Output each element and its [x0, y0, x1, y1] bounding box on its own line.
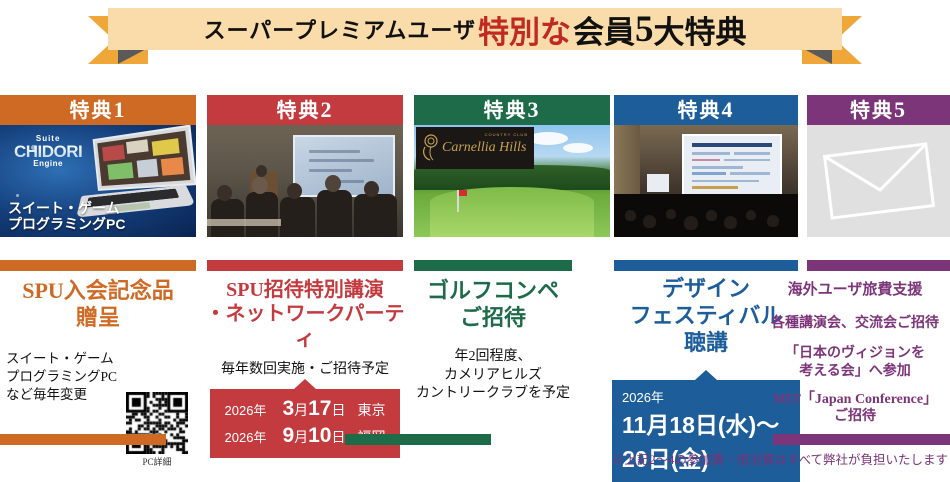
banner-tail-a-text: 会員 — [573, 7, 635, 52]
benefit-panel-2: SPU招待特別講演 ・ネットワークパーティ 毎年数回実施・ご招待予定 2026年… — [203, 278, 407, 458]
promotion-page: スーパープレミアムユーザ 特別な 会員 5 大特典 特典1 Suite CHID… — [0, 0, 950, 472]
panel-body-3-line2: カメリアヒルズ — [408, 367, 578, 386]
panel-body-1-line1: スイート・ゲーム — [6, 350, 124, 368]
card-header-5: 特典5 — [807, 95, 950, 125]
panel-list-5-line1: 海外ユーザ旅費支援 — [760, 278, 950, 299]
banner-lead-text: スーパープレミアムユーザ — [204, 13, 476, 45]
banner-highlight-text: 特別な — [478, 7, 571, 52]
panel-title-1-line2: 贈呈 — [0, 305, 196, 332]
laptop-image-caption: スイート・ゲーム プログラミングPC — [8, 200, 125, 232]
divider-bar-top-5 — [807, 260, 950, 271]
laptop-promo-image: Suite CHIDORI Engine — [0, 125, 196, 237]
date-2-day-unit: 日 — [331, 431, 345, 446]
panel-title-2-line2: ・ネットワークパーティ — [203, 302, 407, 351]
golf-course-photo: Carnellia Hills COUNTRY CLUB — [414, 125, 610, 237]
divider-bar-top-3 — [414, 260, 572, 271]
divider-bar-bottom-1 — [0, 434, 166, 445]
panel-body-3-line1: 年2回程度、 — [408, 348, 578, 367]
laptop-caption-line1: スイート・ゲーム — [8, 200, 125, 216]
panel-body-2: 毎年数回実施・ご招待予定 — [203, 361, 407, 380]
banner-tail-b-text: 大特典 — [653, 7, 746, 52]
card-badge-number-4: 4 — [722, 97, 735, 122]
panel-list-5-line5: MIT「Japan Conference」 — [760, 392, 950, 409]
card-header-1: 特典1 — [0, 95, 196, 125]
banner-title: スーパープレミアムユーザ 特別な 会員 5 大特典 — [108, 8, 842, 50]
date-1-city: 東京 — [357, 404, 385, 419]
benefit-panel-3: ゴルフコンペ ご招待 年2回程度、 カメリアヒルズ カントリークラブを予定 — [408, 278, 578, 404]
card-badge-label-5: 特典 — [850, 100, 894, 122]
card-badge-number-2: 2 — [321, 97, 334, 122]
card-badge-label-2: 特典 — [277, 100, 321, 122]
envelope-icon — [822, 142, 935, 220]
card-badge-number-3: 3 — [528, 97, 541, 122]
card-header-2: 特典2 — [207, 95, 403, 125]
divider-bar-top-2 — [207, 260, 403, 271]
divider-bar-top-4 — [614, 260, 798, 271]
divider-bar-bottom-3 — [345, 434, 491, 445]
date-1-month: 3 — [282, 397, 294, 420]
date-1-year: 2026年 — [225, 403, 267, 418]
panel-body-1: スイート・ゲーム プログラミングPC など毎年変更 — [0, 350, 124, 405]
divider-bar-top-1 — [0, 260, 196, 271]
banner-ribbon: スーパープレミアムユーザ 特別な 会員 5 大特典 — [0, 4, 950, 76]
panel-body-1-line3: など毎年変更 — [6, 386, 124, 404]
panel-body-2-line1: 毎年数回実施・ご招待予定 — [203, 361, 407, 380]
benefit-card-5[interactable]: 特典5 — [807, 95, 950, 237]
banner-number-text: 5 — [635, 8, 654, 51]
chidori-logo-line3: Engine — [14, 160, 82, 168]
seminar-room-photo — [207, 125, 403, 237]
panel-title-1-line1: SPU入会記念品 — [0, 278, 196, 305]
card-badge-label-4: 特典 — [678, 100, 722, 122]
panel-title-3-line2: ご招待 — [408, 305, 578, 332]
panel-list-5-line6: ご招待 — [760, 409, 950, 426]
qr-code-block[interactable]: PC詳細 — [126, 392, 188, 468]
panel-title-2-line1: SPU招待特別講演 — [203, 278, 407, 302]
benefit-panel-1: SPU入会記念品 贈呈 スイート・ゲーム プログラミングPC など毎年変更 PC… — [0, 278, 196, 404]
benefit-card-4[interactable]: 特典4 — [614, 95, 798, 237]
benefit-panel-5: 海外ユーザ旅費支援 各種講演会、交流会ご招待 「日本のヴィジョンを 考える会」へ… — [760, 276, 950, 426]
carnellia-hills-logo-sub: COUNTRY CLUB — [485, 132, 528, 137]
panel-title-3-line1: ゴルフコンペ — [408, 278, 578, 305]
panel-title-3: ゴルフコンペ ご招待 — [408, 278, 578, 332]
card-badge-number-1: 1 — [114, 97, 127, 122]
card-badge-number-5: 5 — [894, 97, 907, 122]
date-2-day: 10 — [308, 424, 331, 447]
date-2-year: 2026年 — [225, 430, 267, 445]
footnote-text: ※上記2〜4の参加費・宿泊費はすべて弊社が負担いたします — [612, 449, 948, 468]
date-box-2: 2026年 3月17日 東京 2026年 9月10日 福岡 — [210, 389, 400, 458]
date-row-1: 2026年 3月17日 東京 — [214, 396, 396, 423]
date-1-day: 17 — [308, 397, 331, 420]
date-1-month-unit: 月 — [294, 404, 308, 419]
card-header-4: 特典4 — [614, 95, 798, 125]
panel-body-3: 年2回程度、 カメリアヒルズ カントリークラブを予定 — [408, 348, 578, 405]
carnellia-hills-logo: Carnellia Hills COUNTRY CLUB — [416, 127, 534, 169]
divider-bar-bottom-5 — [773, 434, 950, 445]
date-1-day-unit: 日 — [331, 404, 345, 419]
panel-body-3-line3: カントリークラブを予定 — [408, 385, 578, 404]
panel-body-1-line2: プログラミングPC — [6, 368, 124, 386]
card-badge-label-3: 特典 — [484, 100, 528, 122]
envelope-icon-image — [807, 125, 950, 237]
auditorium-photo — [614, 125, 798, 237]
panel-title-1: SPU入会記念品 贈呈 — [0, 278, 196, 332]
qr-code-image[interactable] — [126, 392, 188, 454]
laptop-caption-line2: プログラミングPC — [8, 216, 125, 232]
camellia-flower-icon — [421, 133, 441, 161]
card-header-3: 特典3 — [414, 95, 610, 125]
card-badge-label-1: 特典 — [70, 100, 114, 122]
benefit-card-1[interactable]: 特典1 Suite CHIDORI Engine — [0, 95, 196, 237]
benefit-card-2[interactable]: 特典2 — [207, 95, 403, 237]
panel-list-5-line2: 各種講演会、交流会ご招待 — [760, 312, 950, 332]
panel-list-5-line3: 「日本のヴィジョンを — [760, 345, 950, 363]
date-2-month-unit: 月 — [294, 431, 308, 446]
panel-list-5: 海外ユーザ旅費支援 各種講演会、交流会ご招待 「日本のヴィジョンを 考える会」へ… — [760, 278, 950, 426]
panel-list-5-line4: 考える会」へ参加 — [760, 363, 950, 381]
qr-code-caption: PC詳細 — [126, 455, 188, 468]
date-2-month: 9 — [282, 424, 294, 447]
panel-title-2: SPU招待特別講演 ・ネットワークパーティ — [203, 278, 407, 351]
benefit-card-3[interactable]: 特典3 Carnellia Hills COUNTRY CLUB — [414, 95, 610, 237]
